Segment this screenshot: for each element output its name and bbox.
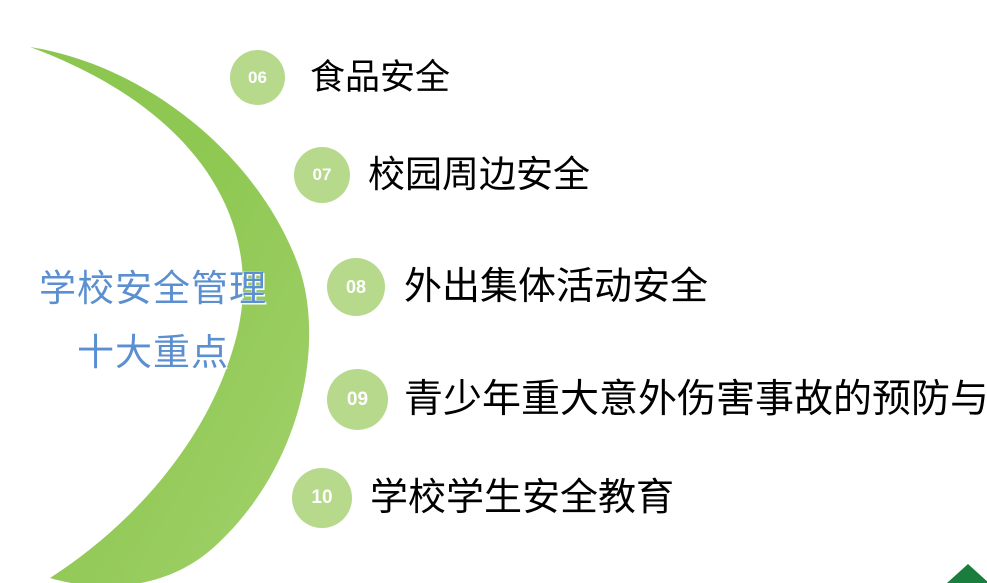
list-item-08[interactable]: 08 外出集体活动安全 <box>327 258 708 316</box>
item-label-08: 外出集体活动安全 <box>404 268 708 306</box>
item-label-06: 食品安全 <box>310 60 450 95</box>
item-label-07: 校园周边安全 <box>368 157 590 194</box>
page-title-line-1: 学校安全管理 <box>14 258 292 322</box>
item-number-badge-06: 06 <box>230 50 285 105</box>
list-item-06[interactable]: 06 食品安全 <box>230 50 450 105</box>
page-title: 学校安全管理 十大重点 <box>14 258 292 385</box>
item-number-badge-08: 08 <box>327 258 385 316</box>
item-label-10: 学校学生安全教育 <box>370 479 674 517</box>
slide-canvas: 学校安全管理 十大重点 06 食品安全 07 校园周边安全 08 外出集体活动安… <box>0 0 987 583</box>
list-item-10[interactable]: 10 学校学生安全教育 <box>292 468 674 528</box>
item-number-badge-09: 09 <box>327 369 388 430</box>
item-number-badge-07: 07 <box>294 147 350 203</box>
list-item-09[interactable]: 09 青少年重大意外伤害事故的预防与处理 <box>327 369 987 430</box>
page-title-line-2: 十大重点 <box>14 322 292 386</box>
item-number-badge-10: 10 <box>292 468 352 528</box>
list-item-07[interactable]: 07 校园周边安全 <box>294 147 590 203</box>
corner-triangle-icon <box>947 564 987 583</box>
item-label-09: 青少年重大意外伤害事故的预防与处理 <box>404 380 987 419</box>
